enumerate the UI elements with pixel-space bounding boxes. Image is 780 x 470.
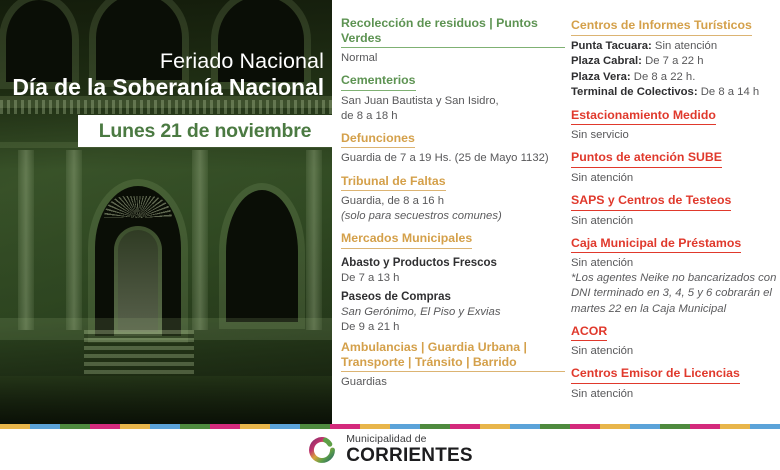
poster-root: Feriado Nacional Día de la Soberanía Nac… bbox=[0, 0, 780, 470]
color-bar-segment bbox=[570, 424, 600, 429]
pilaster-decor bbox=[66, 150, 82, 330]
service-key-value-row: Plaza Vera: De 8 a 22 h. bbox=[571, 70, 777, 86]
date-banner-label: Lunes 21 de noviembre bbox=[99, 120, 312, 143]
service-heading: Recolección de residuos | Puntos Verdes bbox=[341, 16, 565, 48]
service-detail-line: Guardia de 7 a 19 Hs. (25 de Mayo 1132) bbox=[341, 151, 565, 166]
service-kv-value: De 8 a 14 h bbox=[698, 86, 760, 98]
service-detail-line: Sin servicio bbox=[571, 128, 777, 143]
service-kv-key: Punta Tacuara: bbox=[571, 40, 652, 52]
service-heading: SAPS y Centros de Testeos bbox=[571, 193, 731, 211]
color-bar-segment bbox=[510, 424, 540, 429]
service-kv-value: De 7 a 22 h bbox=[642, 55, 704, 67]
service-detail-line: Sin atención bbox=[571, 344, 777, 359]
service-subitem-places: San Gerónimo, El Piso y Exvias bbox=[341, 305, 565, 320]
color-bar-segment bbox=[480, 424, 510, 429]
service-heading: Caja Municipal de Préstamos bbox=[571, 236, 741, 254]
color-bar-segment bbox=[630, 424, 660, 429]
pilaster-decor bbox=[192, 150, 208, 330]
color-bar-segment bbox=[540, 424, 570, 429]
hero-title: Feriado Nacional Día de la Soberanía Nac… bbox=[12, 50, 324, 100]
service-subitem-hours: De 9 a 21 h bbox=[341, 320, 565, 335]
color-bar-segment bbox=[210, 424, 240, 429]
color-bar-segment bbox=[720, 424, 750, 429]
service-detail-line: Normal bbox=[341, 51, 565, 66]
service-block: Centros Emisor de LicenciasSin atención bbox=[571, 364, 777, 402]
color-bar-segment bbox=[60, 424, 90, 429]
service-heading: Tribunal de Faltas bbox=[341, 174, 446, 192]
service-detail-line: Sin atención bbox=[571, 387, 777, 402]
color-bar-segment bbox=[330, 424, 360, 429]
service-detail-line: San Juan Bautista y San Isidro, bbox=[341, 94, 565, 109]
service-block: Puntos de atención SUBESin atención bbox=[571, 148, 777, 186]
services-column-middle: Recolección de residuos | Puntos VerdesN… bbox=[341, 16, 565, 395]
service-block: CementeriosSan Juan Bautista y San Isidr… bbox=[341, 71, 565, 124]
service-subitem-name: Paseos de Compras bbox=[341, 290, 565, 305]
ground-decor bbox=[0, 376, 332, 424]
color-bar-segment bbox=[600, 424, 630, 429]
service-block: ACORSin atención bbox=[571, 322, 777, 360]
hero-title-line1: Feriado Nacional bbox=[12, 50, 324, 73]
color-bar-segment bbox=[180, 424, 210, 429]
footer-logo-text: Municipalidad de CORRIENTES bbox=[346, 434, 473, 465]
color-bar-segment bbox=[660, 424, 690, 429]
footer-logo-line2: CORRIENTES bbox=[346, 446, 473, 465]
pilaster-decor bbox=[306, 150, 322, 330]
service-detail-line: Sin atención bbox=[571, 171, 777, 186]
hero-panel: Feriado Nacional Día de la Soberanía Nac… bbox=[0, 0, 332, 424]
service-heading: Mercados Municipales bbox=[341, 231, 472, 249]
footer-logo-line1: Municipalidad de bbox=[346, 434, 473, 445]
service-detail-line: Sin atención bbox=[571, 214, 777, 229]
balustrade-decor bbox=[0, 100, 332, 114]
color-bar-segment bbox=[390, 424, 420, 429]
service-key-value-row: Punta Tacuara: Sin atención bbox=[571, 39, 777, 55]
color-bar-segment bbox=[300, 424, 330, 429]
pilaster-decor bbox=[18, 150, 34, 330]
service-note: *Los agentes Neike no bancarizados con D… bbox=[571, 271, 777, 316]
arch-decor bbox=[226, 190, 298, 322]
service-block: Tribunal de FaltasGuardia, de 8 a 16 h(s… bbox=[341, 172, 565, 225]
service-block: Recolección de residuos | Puntos VerdesN… bbox=[341, 16, 565, 66]
services-column-right: Centros de Informes TurísticosPunta Tacu… bbox=[571, 16, 777, 407]
brand-color-bar bbox=[0, 424, 780, 429]
service-detail-line: Sin atención bbox=[571, 256, 777, 271]
service-detail-line: Guardia, de 8 a 16 h bbox=[341, 194, 565, 209]
service-block: Centros de Informes TurísticosPunta Tacu… bbox=[571, 16, 777, 101]
footer: Municipalidad de CORRIENTES bbox=[0, 429, 780, 470]
service-kv-key: Plaza Cabral: bbox=[571, 55, 642, 67]
service-block: Estacionamiento MedidoSin servicio bbox=[571, 106, 777, 144]
service-heading: Defunciones bbox=[341, 131, 415, 149]
service-kv-key: Terminal de Colectivos: bbox=[571, 86, 698, 98]
steps-decor bbox=[84, 330, 194, 376]
color-bar-segment bbox=[420, 424, 450, 429]
color-bar-segment bbox=[90, 424, 120, 429]
service-heading: Centros Emisor de Licencias bbox=[571, 366, 740, 384]
color-bar-segment bbox=[120, 424, 150, 429]
color-bar-segment bbox=[450, 424, 480, 429]
service-block: Ambulancias | Guardia Urbana | Transport… bbox=[341, 340, 565, 390]
service-heading: Cementerios bbox=[341, 73, 416, 91]
service-note: (solo para secuestros comunes) bbox=[341, 209, 565, 224]
service-kv-value: De 8 a 22 h. bbox=[631, 71, 696, 83]
color-bar-segment bbox=[0, 424, 30, 429]
service-heading: Estacionamiento Medido bbox=[571, 108, 716, 126]
corrientes-ring-logo-icon bbox=[307, 435, 337, 465]
color-bar-segment bbox=[690, 424, 720, 429]
service-heading: Centros de Informes Turísticos bbox=[571, 18, 752, 36]
service-block: Caja Municipal de PréstamosSin atención*… bbox=[571, 234, 777, 317]
color-bar-segment bbox=[30, 424, 60, 429]
service-detail-line: Guardias bbox=[341, 375, 565, 390]
service-kv-value: Sin atención bbox=[652, 40, 717, 52]
service-block: SAPS y Centros de TesteosSin atención bbox=[571, 191, 777, 229]
service-kv-key: Plaza Vera: bbox=[571, 71, 631, 83]
color-bar-segment bbox=[150, 424, 180, 429]
service-key-value-row: Plaza Cabral: De 7 a 22 h bbox=[571, 54, 777, 70]
date-banner: Lunes 21 de noviembre bbox=[78, 115, 332, 147]
color-bar-segment bbox=[240, 424, 270, 429]
color-bar-segment bbox=[750, 424, 780, 429]
color-bar-segment bbox=[270, 424, 300, 429]
service-block: Mercados MunicipalesAbasto y Productos F… bbox=[341, 229, 565, 335]
service-subitem-name: Abasto y Productos Frescos bbox=[341, 256, 565, 271]
service-heading: Puntos de atención SUBE bbox=[571, 150, 722, 168]
service-block: DefuncionesGuardia de 7 a 19 Hs. (25 de … bbox=[341, 129, 565, 167]
service-detail-line: de 8 a 18 h bbox=[341, 109, 565, 124]
color-bar-segment bbox=[360, 424, 390, 429]
fanlight-decor bbox=[104, 196, 172, 218]
service-heading: Ambulancias | Guardia Urbana | Transport… bbox=[341, 340, 565, 372]
hero-title-line2: Día de la Soberanía Nacional bbox=[12, 74, 324, 100]
service-key-value-row: Terminal de Colectivos: De 8 a 14 h bbox=[571, 85, 777, 101]
service-heading: ACOR bbox=[571, 324, 607, 342]
service-subitem-hours: De 7 a 13 h bbox=[341, 271, 565, 286]
